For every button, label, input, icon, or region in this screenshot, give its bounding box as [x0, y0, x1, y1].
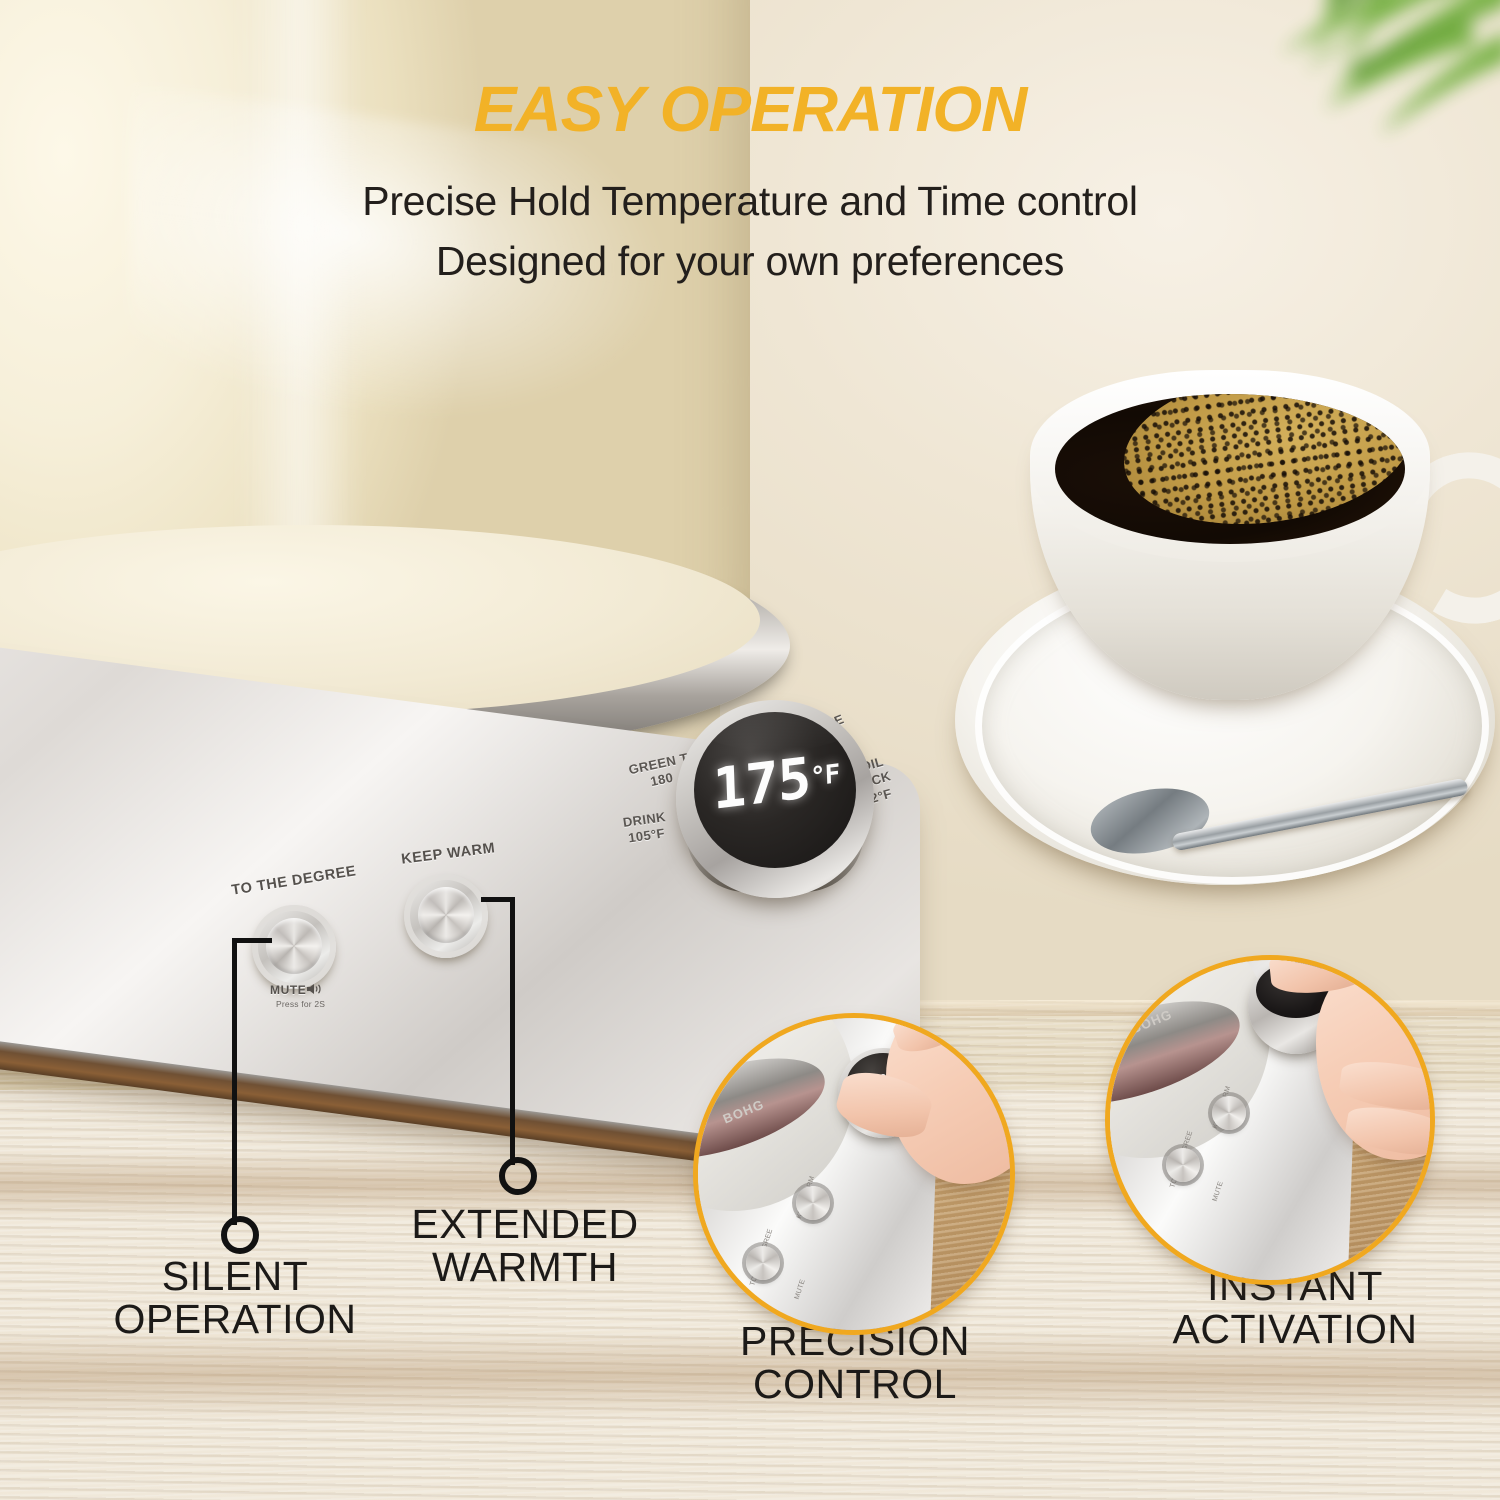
callout-extended-warmth: EXTENDED WARMTH: [345, 1203, 705, 1290]
page-title: EASY OPERATION: [0, 72, 1500, 146]
product-marketing-image: GREEN T 180 DRINK 105°F EE OIL ACK 2°F 1…: [0, 0, 1500, 1500]
inset1-to-the-degree-button[interactable]: [746, 1246, 780, 1280]
leader-silent-v: [232, 938, 237, 1225]
keep-warm-button-cap[interactable]: [418, 887, 474, 943]
led-temperature-unit: °F: [810, 759, 840, 793]
mute-speaker-icon: [306, 982, 324, 996]
coffee-liquid: [1055, 394, 1405, 544]
inset2-to-the-degree-button[interactable]: [1166, 1148, 1200, 1182]
leader-warmth-v: [510, 897, 515, 1165]
subtitle-line-2: Designed for your own preferences: [0, 238, 1500, 285]
inset1-keep-warm-button[interactable]: [796, 1186, 830, 1220]
leader-silent-dot: [221, 1216, 259, 1254]
to-the-degree-button-cap[interactable]: [266, 918, 322, 974]
mute-label: MUTE: [270, 983, 306, 997]
mute-press-note: Press for 2S: [276, 999, 325, 1009]
led-temperature-display: 175°F: [699, 727, 853, 838]
inset-precision-control: BOHG 120°F 03:20 KEEP WARM TO THE DEGREE…: [693, 1013, 1015, 1335]
led-temperature-value: 175: [712, 745, 812, 822]
inset-instant-activation: BOHG KEEP WARM TO THE DEGREE MUTE: [1105, 955, 1435, 1285]
leader-silent-h: [236, 938, 272, 943]
preset-drink: DRINK 105°F: [622, 809, 669, 847]
subtitle-line-1: Precise Hold Temperature and Time contro…: [0, 178, 1500, 225]
leader-warmth-dot: [499, 1157, 537, 1195]
inset2-keep-warm-button[interactable]: [1212, 1096, 1246, 1130]
